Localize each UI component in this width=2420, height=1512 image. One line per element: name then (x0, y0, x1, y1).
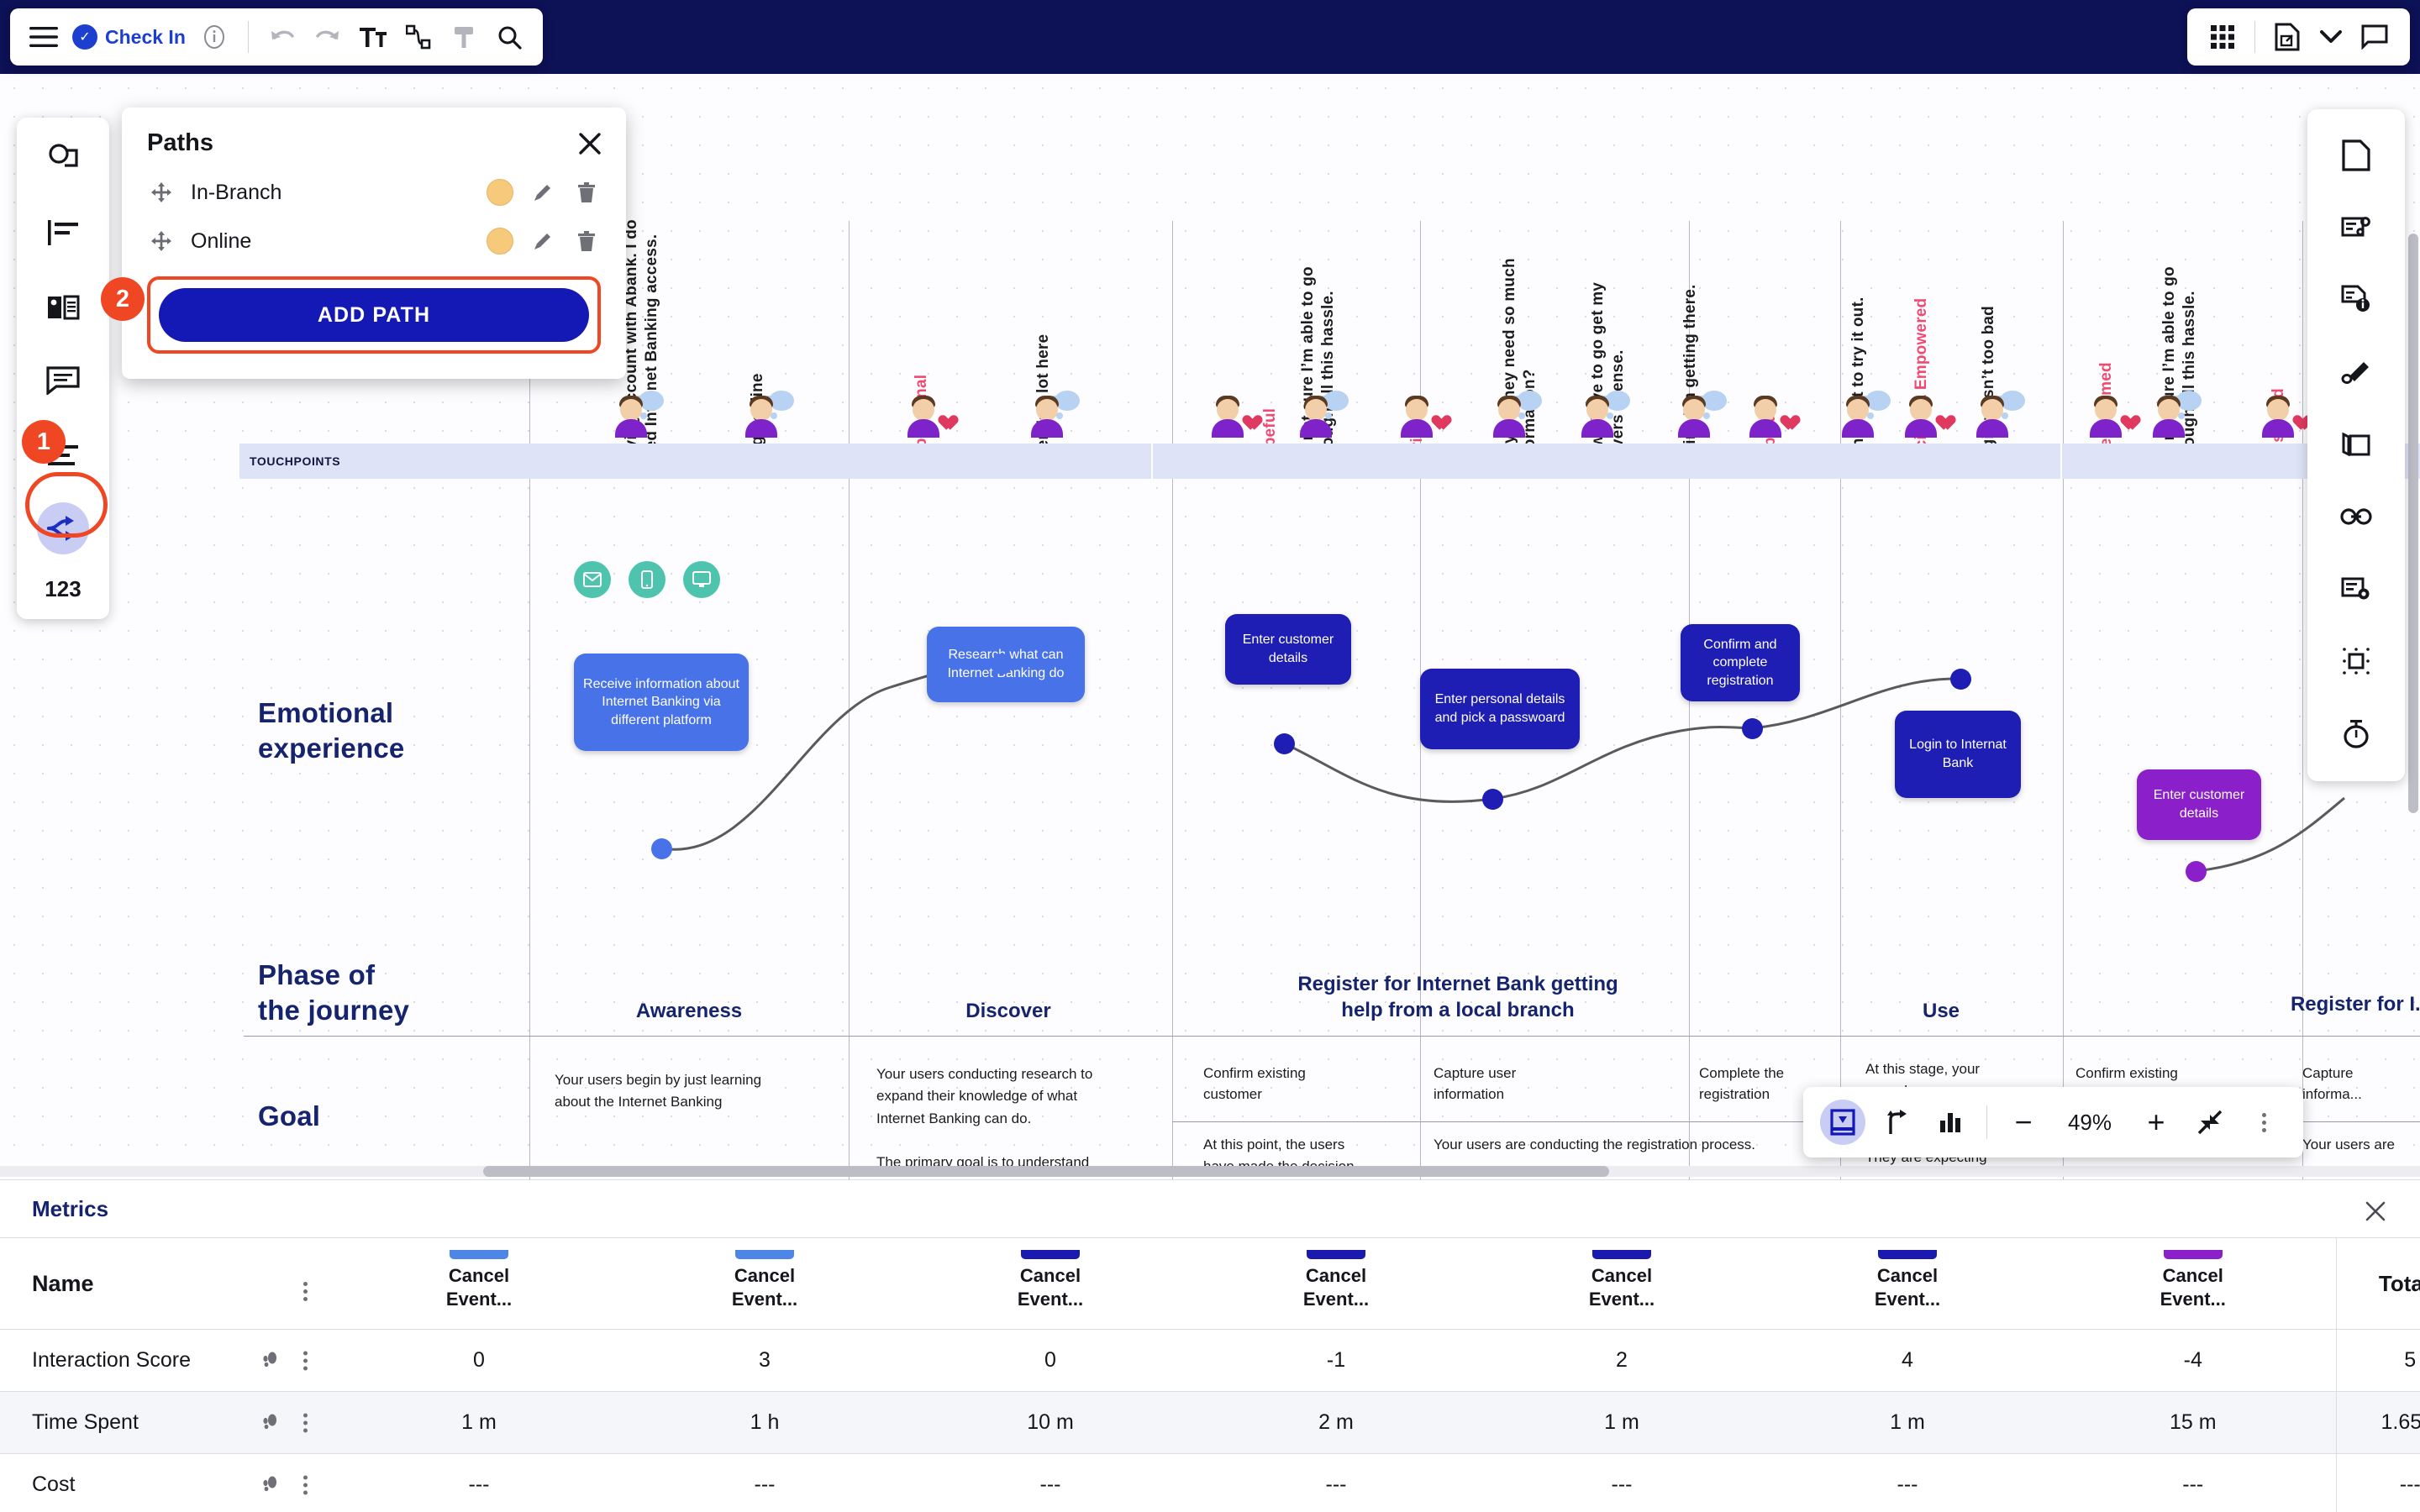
link-icon[interactable] (2332, 492, 2381, 541)
heart-icon (1428, 409, 1446, 426)
metric-value-cell[interactable]: 1 m (336, 1392, 622, 1454)
avatar-head (620, 399, 642, 421)
metric-name-label: Time Spent (32, 1410, 139, 1434)
lanes-icon[interactable] (37, 207, 89, 259)
avatar-body (745, 419, 777, 438)
card-settings-icon[interactable] (2332, 564, 2381, 613)
avatar-body (1976, 419, 2008, 438)
kebab-menu[interactable] (303, 1266, 308, 1301)
phase-divider-rule (244, 1036, 2420, 1037)
metric-row-name: Interaction Score (0, 1330, 336, 1392)
metric-value-cell[interactable]: --- (1479, 1454, 1765, 1512)
footprint-icon[interactable] (261, 1476, 280, 1494)
persona-avatar (1748, 389, 1795, 438)
paths-icon[interactable] (37, 502, 89, 554)
persona-avatar (1298, 389, 1345, 438)
column-color-bar (1021, 1250, 1080, 1259)
metric-value-cell[interactable]: --- (1193, 1454, 1479, 1512)
avatar-head (1847, 399, 1869, 421)
move-icon[interactable] (147, 181, 176, 203)
persona-avatar (1975, 389, 2022, 438)
path-color-swatch[interactable] (487, 179, 513, 206)
emotion-card[interactable]: Enter personal details and pick a passwo… (1420, 669, 1580, 749)
thought-cloud-icon (2000, 391, 2025, 411)
avatar-head (1683, 399, 1705, 421)
metric-name-label: Cost (32, 1473, 75, 1496)
toolbar-right-divider (2254, 21, 2255, 53)
emotion-node[interactable] (1482, 789, 1503, 810)
metrics-column-header[interactable]: Cancel Event... (622, 1238, 907, 1330)
zoom-out-button[interactable]: − (2001, 1100, 2046, 1145)
sub-heading: Capture informa... (2302, 1063, 2420, 1105)
kebab-menu[interactable] (303, 1351, 308, 1370)
kebab-dots (2262, 1113, 2266, 1132)
avatar-head (913, 399, 934, 421)
right-icon-rail[interactable] (2307, 109, 2405, 781)
thought-cloud-icon (1605, 391, 1630, 411)
emotion-card[interactable]: Receive information about Internet Banki… (574, 654, 749, 751)
kebab-menu[interactable] (303, 1475, 308, 1494)
avatar-head (1217, 399, 1239, 421)
thought-cloud-icon (1055, 391, 1080, 411)
metric-total-cell: --- (2336, 1454, 2420, 1512)
goal-text: Your users are (2302, 1134, 2420, 1156)
persona-avatar (613, 389, 660, 438)
footprint-icon[interactable] (261, 1414, 280, 1432)
kebab-menu[interactable] (303, 1413, 308, 1432)
metrics-panel[interactable]: Metrics NameCancel Event...Cancel Event.… (0, 1179, 2420, 1512)
callout-badge-1: 1 (22, 420, 66, 464)
column-label: Cancel Event... (341, 1264, 617, 1310)
touchpoints-label: TOUCHPOINTS (250, 454, 340, 468)
zoom-divider (1986, 1105, 1987, 1139)
avatar-head (1586, 399, 1608, 421)
canvas-vertical-scrollbar[interactable] (2408, 234, 2418, 813)
pencil-icon[interactable] (529, 230, 557, 252)
trash-icon[interactable] (572, 230, 601, 252)
fit-to-screen-icon[interactable] (1820, 1100, 1865, 1145)
metric-value-cell[interactable]: 2 m (1193, 1392, 1479, 1454)
emotion-node[interactable] (1742, 718, 1763, 739)
avatar-head (2095, 399, 2117, 421)
mobile-icon[interactable] (629, 561, 665, 598)
metric-value-cell[interactable]: --- (1765, 1454, 2050, 1512)
phase-of-journey-row-label: Phase of the journey (258, 958, 409, 1028)
metric-total-cell: 5 (2336, 1330, 2420, 1392)
avatar-body (1493, 419, 1525, 438)
stopwatch-icon[interactable] (2332, 709, 2381, 758)
emotion-card[interactable]: Login to Internat Bank (1895, 711, 2021, 798)
metric-value-cell[interactable]: -4 (2050, 1330, 2336, 1392)
metric-value-cell[interactable]: 2 (1479, 1330, 1765, 1392)
avatar-head (1754, 399, 1776, 421)
avatar-body (1031, 419, 1063, 438)
path-row-online[interactable]: Online (147, 228, 601, 255)
top-right-toolbar[interactable] (2187, 8, 2410, 66)
metrics-header-row: NameCancel Event...Cancel Event...Cancel… (0, 1238, 2420, 1330)
emotion-node[interactable] (1274, 733, 1295, 754)
phase-heading: Discover (849, 998, 1168, 1024)
avatar-body (2153, 419, 2185, 438)
comment-icon[interactable] (2354, 17, 2395, 57)
metrics-column-header[interactable]: Cancel Event... (1193, 1238, 1479, 1330)
persona-avatar (1029, 389, 1076, 438)
path-name: In-Branch (191, 181, 471, 205)
thought-cloud-icon (2176, 391, 2202, 411)
move-icon[interactable] (147, 230, 176, 252)
hamburger-menu-icon[interactable] (24, 17, 64, 57)
column-label: Cancel Event... (913, 1264, 1188, 1310)
comment-box-icon[interactable] (37, 354, 89, 407)
path-row-in-branch[interactable]: In-Branch (147, 179, 601, 206)
thought-cloud-icon (1517, 391, 1542, 411)
column-color-bar (1307, 1250, 1365, 1259)
emotion-card[interactable]: Confirm and complete registration (1681, 624, 1800, 701)
avatar-head (2158, 399, 2180, 421)
zoom-toolbar[interactable]: − 49% + (1803, 1087, 2303, 1158)
search-icon[interactable] (489, 17, 529, 57)
avatar-body (1581, 419, 1613, 438)
thought-cloud-icon (1702, 391, 1727, 411)
metric-value-cell[interactable]: 0 (907, 1330, 1193, 1392)
more-vertical-icon[interactable] (2241, 1100, 2286, 1145)
page-icon[interactable] (2332, 131, 2381, 180)
emotion-node[interactable] (1950, 669, 1971, 690)
storyboard-icon[interactable] (37, 281, 89, 333)
close-icon[interactable] (574, 128, 606, 160)
metric-value-cell[interactable]: --- (336, 1454, 622, 1512)
desktop-icon[interactable] (683, 561, 720, 598)
metrics-body[interactable]: Interaction Score030-124-45Time Spent1 m… (0, 1330, 2420, 1512)
metrics-column-header[interactable]: Cancel Event... (2050, 1238, 2336, 1330)
column-color-bar (2164, 1250, 2223, 1259)
heart-icon (2117, 409, 2135, 426)
persona-avatar (1580, 389, 1627, 438)
phase-heading: Register for I... (2235, 991, 2420, 1017)
metric-value-cell[interactable]: 1 m (1765, 1392, 2050, 1454)
metrics-header: Metrics (0, 1180, 2420, 1237)
avatar-head (1406, 399, 1428, 421)
left-icon-rail[interactable]: 123 (17, 118, 109, 619)
quote-label: There’s a lot here (1034, 284, 1054, 469)
document-info-icon[interactable] (2332, 276, 2381, 324)
paths-counter: 123 (45, 576, 81, 602)
metric-value-cell[interactable]: 15 m (2050, 1392, 2336, 1454)
metric-value-cell[interactable]: 1 m (1479, 1392, 1765, 1454)
metric-value-cell[interactable]: --- (2050, 1454, 2336, 1512)
metric-value-cell[interactable]: -1 (1193, 1330, 1479, 1392)
chevron-down-icon[interactable] (2311, 17, 2351, 57)
info-icon[interactable] (194, 17, 234, 57)
row-actions[interactable] (261, 1413, 308, 1432)
text-format-icon[interactable] (353, 17, 393, 57)
avatar-body (1678, 419, 1710, 438)
column-label: Cancel Event... (627, 1264, 902, 1310)
metrics-column-header[interactable]: Cancel Event... (1479, 1238, 1765, 1330)
sub-heading: Capture user information (1434, 1063, 1635, 1105)
goal-text: Your users begin by just learning about … (555, 1069, 823, 1114)
connector-icon[interactable] (398, 17, 439, 57)
metric-value-cell[interactable]: 0 (336, 1330, 622, 1392)
persona-avatar (1676, 389, 1723, 438)
avatar-head (750, 399, 772, 421)
column-label: Cancel Event... (1770, 1264, 2045, 1310)
callout-badge-2: 2 (101, 277, 145, 321)
metric-value-cell[interactable]: --- (622, 1454, 907, 1512)
metrics-table[interactable]: NameCancel Event...Cancel Event...Cancel… (0, 1237, 2420, 1512)
row-actions[interactable] (261, 1475, 308, 1494)
metric-value-cell[interactable]: 4 (1765, 1330, 2050, 1392)
heart-icon (934, 409, 953, 426)
pencil-icon[interactable] (529, 181, 557, 203)
selection-icon[interactable] (2332, 637, 2381, 685)
metrics-name-header: Name (0, 1238, 336, 1330)
branch-icon[interactable] (1874, 1100, 1919, 1145)
redo-icon[interactable] (308, 17, 348, 57)
metric-value-cell[interactable]: 3 (622, 1330, 907, 1392)
trash-icon[interactable] (572, 181, 601, 203)
metric-value-cell[interactable]: --- (907, 1454, 1193, 1512)
path-color-swatch[interactable] (487, 228, 513, 255)
grid-apps-icon[interactable] (2202, 17, 2243, 57)
avatar-head (1036, 399, 1058, 421)
persona-avatar (1210, 389, 1257, 438)
emotion-card[interactable]: Enter customer details (2137, 769, 2261, 840)
goal-row-label: Goal (258, 1099, 320, 1134)
table-row[interactable]: Cost------------------------ (0, 1454, 2420, 1512)
heart-icon (1932, 409, 1950, 426)
avatar-head (1305, 399, 1327, 421)
phase-heading: Awareness (529, 998, 849, 1024)
close-icon[interactable] (2359, 1195, 2391, 1227)
paths-panel[interactable]: Paths In-Branch Online ADD PATH (122, 108, 626, 379)
sub-heading: Confirm existing customer (1203, 1063, 1405, 1105)
avatar-head (1498, 399, 1520, 421)
heart-icon (1776, 409, 1795, 426)
metrics-title: Metrics (32, 1196, 108, 1222)
layers-icon[interactable] (2332, 420, 2381, 469)
add-path-button[interactable]: ADD PATH (159, 288, 589, 342)
canvas-horizontal-scrollbar[interactable] (483, 1166, 1609, 1177)
avatar-body (1842, 419, 1874, 438)
main-toolbar[interactable]: ✓ Check In (10, 8, 543, 66)
zoom-in-button[interactable]: + (2133, 1100, 2179, 1145)
persona-avatar (1840, 389, 1887, 438)
column-color-bar (1592, 1250, 1651, 1259)
collapse-icon[interactable] (2187, 1100, 2233, 1145)
emotion-node[interactable] (992, 654, 1013, 675)
emotion-node[interactable] (2186, 861, 2207, 882)
metrics-column-header[interactable]: Cancel Event... (907, 1238, 1193, 1330)
metric-value-cell[interactable]: 10 m (907, 1392, 1193, 1454)
column-color-bar (1878, 1250, 1937, 1259)
check-in-label: Check In (105, 26, 186, 49)
avatar-body (615, 419, 647, 438)
avatar-head (2267, 399, 2289, 421)
paths-panel-title: Paths (147, 129, 601, 157)
metrics-totals-header: Totals (2336, 1238, 2420, 1330)
heart-icon (1239, 409, 1257, 426)
table-row[interactable]: Interaction Score030-124-45 (0, 1330, 2420, 1392)
metric-total-cell: 1.65 h (2336, 1392, 2420, 1454)
persona-avatar (2151, 389, 2198, 438)
zoom-level-label: 49% (2054, 1110, 2125, 1136)
footprint-icon[interactable] (261, 1352, 280, 1370)
column-label: Cancel Event... (2055, 1264, 2331, 1310)
persona-avatar (744, 389, 791, 438)
thought-cloud-icon (769, 391, 794, 411)
column-color-bar (450, 1250, 508, 1259)
touchpoints-band-2 (1153, 444, 2060, 479)
metric-name-label: Interaction Score (32, 1348, 191, 1372)
path-name: Online (191, 229, 471, 254)
thought-cloud-icon (639, 391, 664, 411)
metrics-column-header[interactable]: Cancel Event... (336, 1238, 622, 1330)
toolbar-divider (248, 21, 249, 53)
check-in-badge-icon: ✓ (72, 24, 97, 50)
brush-icon[interactable] (2332, 348, 2381, 396)
bar-chart-icon[interactable] (1928, 1100, 1973, 1145)
phase-heading: Use (1840, 998, 2042, 1024)
paint-roller-icon[interactable] (444, 17, 484, 57)
persona-avatar (1903, 389, 1950, 438)
column-color-bar (735, 1250, 794, 1259)
emotional-experience-row-label: Emotional experience (258, 696, 404, 766)
tag-card-icon[interactable] (2332, 203, 2381, 252)
table-row[interactable]: Time Spent1 m1 h10 m2 m1 m1 m15 m1.65 h (0, 1392, 2420, 1454)
column-label: Cancel Event... (1198, 1264, 1474, 1310)
persona-avatar (2088, 389, 2135, 438)
metric-row-name: Cost (0, 1454, 336, 1512)
metric-value-cell[interactable]: 1 h (622, 1392, 907, 1454)
touchpoints-band-1: TOUCHPOINTS (239, 444, 1151, 479)
avatar-head (1910, 399, 1932, 421)
persona-avatar (906, 389, 953, 438)
undo-icon[interactable] (262, 17, 302, 57)
thought-cloud-icon (1323, 391, 1349, 411)
persona-avatar (1399, 389, 1446, 438)
metrics-column-header[interactable]: Cancel Event... (1765, 1238, 2050, 1330)
export-document-icon[interactable] (2267, 17, 2307, 57)
check-in-button[interactable]: ✓ Check In (69, 24, 189, 50)
emotion-card[interactable]: Enter customer details (1225, 614, 1351, 685)
thought-cloud-icon (1865, 391, 1891, 411)
metric-row-name: Time Spent (0, 1392, 336, 1454)
metrics-name-label: Name (32, 1271, 94, 1296)
mail-icon[interactable] (574, 561, 611, 598)
column-label: Cancel Event... (1484, 1264, 1760, 1310)
persona-avatar (1491, 389, 1539, 438)
row-actions[interactable] (261, 1351, 308, 1370)
heart-icon (2289, 409, 2307, 426)
add-path-highlight: ADD PATH (147, 276, 601, 354)
persona-icon[interactable] (37, 133, 89, 185)
avatar-head (1981, 399, 2003, 421)
phase-heading: Register for Internet Bank getting help … (1172, 971, 1744, 1023)
emotion-node[interactable] (651, 838, 672, 859)
persona-avatar (2260, 389, 2307, 438)
avatar-body (1300, 419, 1332, 438)
